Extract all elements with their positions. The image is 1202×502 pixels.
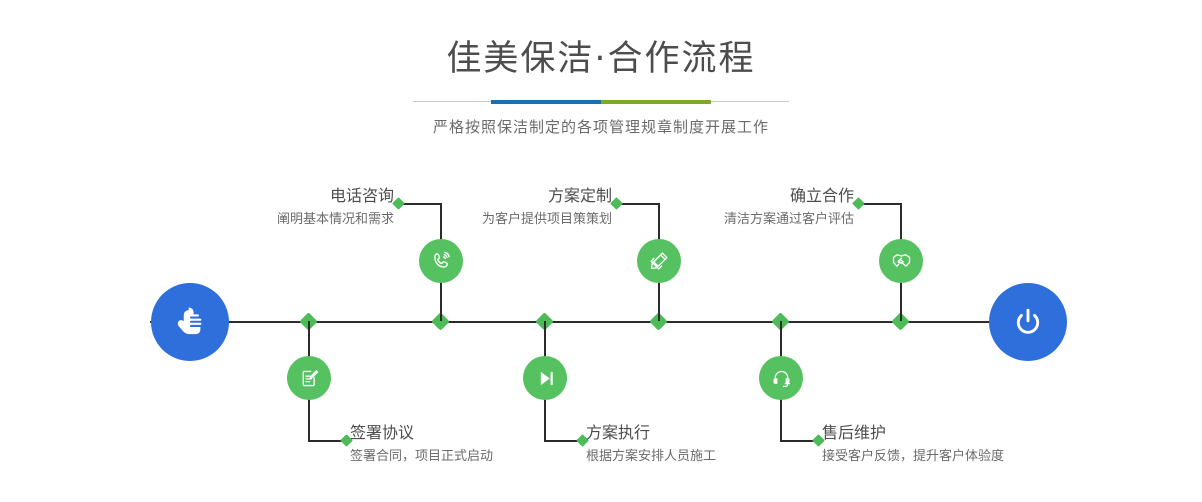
step-icon-4 xyxy=(523,356,567,400)
step-icon-2 xyxy=(287,356,331,400)
step-label-4: 方案执行 根据方案安排人员施工 xyxy=(586,423,716,467)
step-icon-5 xyxy=(879,239,923,283)
title-divider xyxy=(413,101,789,102)
headset-add-icon xyxy=(769,366,794,391)
timeline-start-node xyxy=(151,283,229,361)
step-title-4: 方案执行 xyxy=(586,423,716,443)
step-icon-1 xyxy=(419,239,463,283)
step-desc-4: 根据方案安排人员施工 xyxy=(586,447,716,467)
cooperation-process-infographic: 佳美保洁·合作流程 严格按照保洁制定的各项管理规章制度开展工作 xyxy=(0,0,1202,502)
step-desc-3: 为客户提供项目策策划 xyxy=(344,210,612,230)
phone-call-icon xyxy=(428,248,454,274)
step-label-5: 确立合作 清洁方案通过客户评估 xyxy=(586,186,854,230)
step-desc-5: 清洁方案通过客户评估 xyxy=(586,210,854,230)
play-next-icon xyxy=(533,366,558,391)
divider-segment-blue xyxy=(491,100,601,104)
step-title-5: 确立合作 xyxy=(586,186,854,206)
step-title-6: 售后维护 xyxy=(822,423,1004,443)
step-desc-6: 接受客户反馈，提升客户体验度 xyxy=(822,447,1004,467)
handshake-icon xyxy=(888,248,915,275)
step-label-3: 方案定制 为客户提供项目策策划 xyxy=(344,186,612,230)
page-subtitle: 严格按照保洁制定的各项管理规章制度开展工作 xyxy=(0,116,1202,137)
step-label-2: 签署协议 签署合同，项目正式启动 xyxy=(350,423,493,467)
step-icon-6 xyxy=(759,356,803,400)
document-edit-icon xyxy=(297,366,322,391)
header: 佳美保洁·合作流程 严格按照保洁制定的各项管理规章制度开展工作 xyxy=(0,0,1202,137)
timeline-axis xyxy=(150,321,1052,323)
divider-segment-green xyxy=(601,100,711,104)
step-icon-3 xyxy=(637,239,681,283)
hand-pointing-icon xyxy=(169,301,211,343)
connector-dot-5 xyxy=(852,197,865,210)
page-title: 佳美保洁·合作流程 xyxy=(0,0,1202,77)
step-label-6: 售后维护 接受客户反馈，提升客户体验度 xyxy=(822,423,1004,467)
step-title-2: 签署协议 xyxy=(350,423,493,443)
pencil-ruler-icon xyxy=(646,248,672,274)
step-title-3: 方案定制 xyxy=(344,186,612,206)
step-desc-2: 签署合同，项目正式启动 xyxy=(350,447,493,467)
timeline-end-node xyxy=(989,283,1067,361)
power-icon xyxy=(1008,302,1048,342)
